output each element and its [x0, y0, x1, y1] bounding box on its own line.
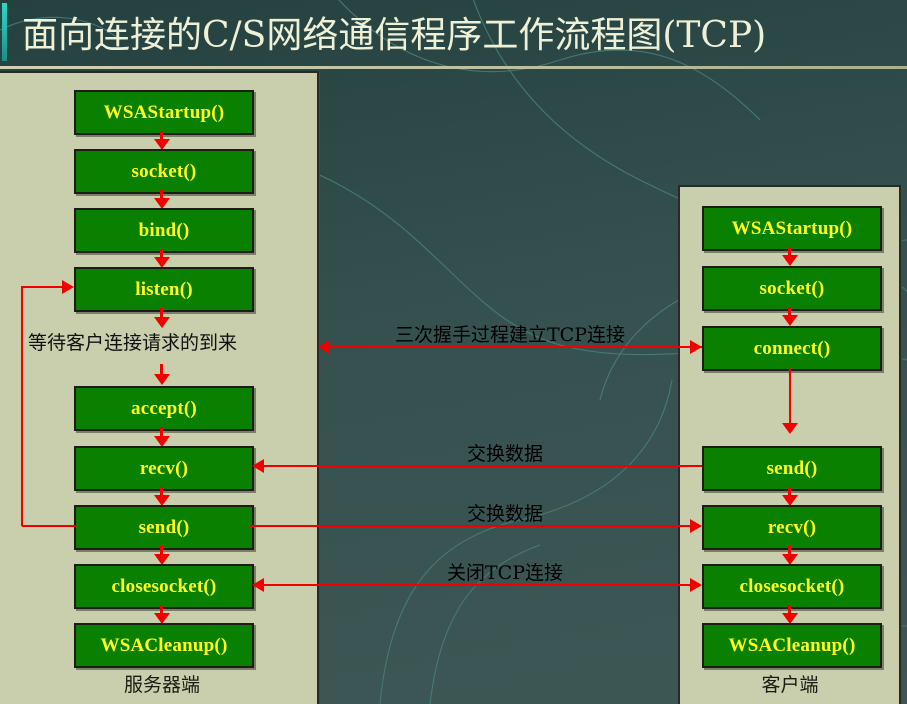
- client-step-label: send(): [767, 458, 818, 480]
- server-wait-note: 等待客户连接请求的到来: [28, 328, 237, 355]
- link-line-exchange-1: [264, 465, 702, 467]
- client-step-label: connect(): [754, 338, 831, 360]
- client-panel-caption: 客户端: [702, 670, 878, 697]
- client-step-recv[interactable]: recv(): [702, 505, 882, 550]
- client-step-label: closesocket(): [740, 576, 845, 598]
- server-step-accept[interactable]: accept(): [74, 386, 254, 431]
- client-step-send[interactable]: send(): [702, 446, 882, 491]
- link-arrowhead-handshake-left: [318, 340, 330, 354]
- link-arrowhead-close-right: [690, 578, 702, 592]
- server-step-recv[interactable]: recv(): [74, 446, 254, 491]
- title-bar: 面向连接的C/S网络通信程序工作流程图(TCP): [0, 0, 907, 66]
- title-accent-bar: [2, 3, 7, 61]
- link-arrowhead-exchange-2: [690, 519, 702, 533]
- client-step-label: WSAStartup(): [732, 218, 853, 240]
- page-title: 面向连接的C/S网络通信程序工作流程图(TCP): [22, 2, 766, 62]
- link-line-handshake: [330, 346, 702, 348]
- link-label-exchange-2: 交换数据: [380, 499, 630, 526]
- client-arrowhead-1: [782, 255, 798, 266]
- loopback-segment-bottom: [22, 525, 76, 527]
- server-arrowhead-5: [154, 374, 170, 385]
- server-step-label: send(): [139, 517, 190, 539]
- server-step-closesocket[interactable]: closesocket(): [74, 564, 254, 609]
- server-step-label: recv(): [140, 458, 188, 480]
- server-step-wsacleanup[interactable]: WSACleanup(): [74, 623, 254, 668]
- client-step-socket[interactable]: socket(): [702, 266, 882, 311]
- slide-canvas: 面向连接的C/S网络通信程序工作流程图(TCP) WSAStartup() so…: [0, 0, 907, 704]
- link-label-close: 关闭TCP连接: [380, 558, 630, 585]
- server-step-label: accept(): [131, 398, 197, 420]
- server-arrowhead-4: [154, 317, 170, 328]
- loopback-arrowhead: [62, 280, 74, 294]
- link-line-close: [264, 584, 690, 586]
- link-arrowhead-handshake-right: [690, 340, 702, 354]
- server-step-label: bind(): [139, 220, 190, 242]
- server-step-label: listen(): [135, 279, 193, 301]
- client-arrowhead-2: [782, 315, 798, 326]
- client-step-closesocket[interactable]: closesocket(): [702, 564, 882, 609]
- server-panel-caption: 服务器端: [74, 670, 250, 697]
- server-step-socket[interactable]: socket(): [74, 149, 254, 194]
- client-step-wsacleanup[interactable]: WSACleanup(): [702, 623, 882, 668]
- link-arrowhead-exchange-1: [252, 459, 264, 473]
- client-step-label: socket(): [760, 278, 825, 300]
- client-step-label: WSACleanup(): [729, 635, 856, 657]
- link-arrowhead-close-left: [252, 578, 264, 592]
- server-step-label: closesocket(): [112, 576, 217, 598]
- client-arrowhead-3: [782, 423, 798, 434]
- server-step-label: WSACleanup(): [101, 635, 228, 657]
- server-step-send[interactable]: send(): [74, 505, 254, 550]
- link-label-exchange-1: 交换数据: [380, 439, 630, 466]
- client-step-wsastartup[interactable]: WSAStartup(): [702, 206, 882, 251]
- client-step-connect[interactable]: connect(): [702, 326, 882, 371]
- server-step-wsastartup[interactable]: WSAStartup(): [74, 90, 254, 135]
- link-label-handshake: 三次握手过程建立TCP连接: [345, 320, 675, 347]
- title-divider: [0, 66, 907, 69]
- server-step-bind[interactable]: bind(): [74, 208, 254, 253]
- server-step-label: WSAStartup(): [104, 102, 225, 124]
- loopback-segment-vertical: [21, 286, 23, 526]
- client-connector-3: [789, 367, 791, 427]
- server-step-listen[interactable]: listen(): [74, 267, 254, 312]
- client-step-label: recv(): [768, 517, 816, 539]
- server-step-label: socket(): [132, 161, 197, 183]
- link-line-exchange-2: [250, 525, 690, 527]
